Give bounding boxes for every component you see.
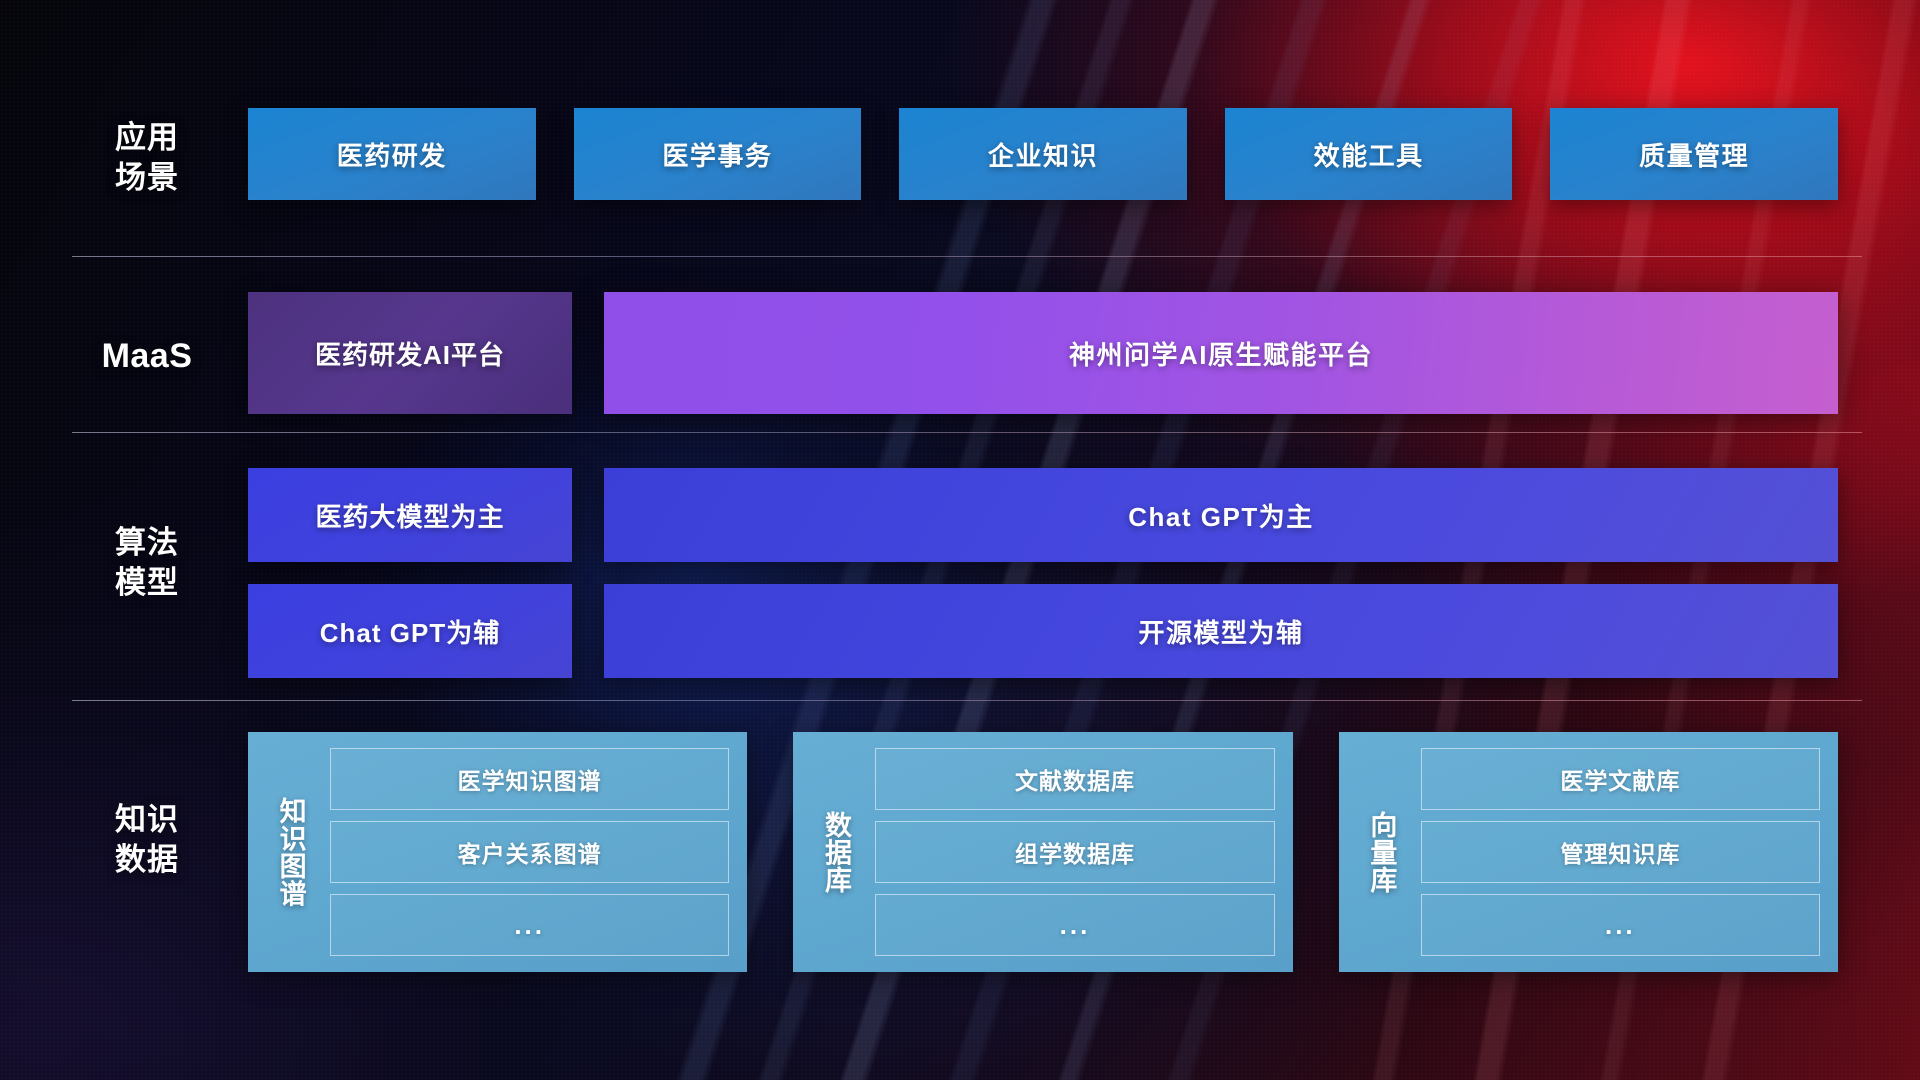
algo-box-label: Chat GPT为辅 <box>320 613 500 650</box>
knowledge-panel-title: 数据库 <box>807 748 863 956</box>
maas-box-shenzhou-wenxue-platform[interactable]: 神州问学AI原生赋能平台 <box>604 292 1838 414</box>
algorithm-line-primary: 医药大模型为主 Chat GPT为主 <box>248 468 1838 562</box>
maas-box-medicine-ai-platform[interactable]: 医药研发AI平台 <box>248 292 572 414</box>
app-box-label: 效能工具 <box>1314 136 1424 173</box>
knowledge-panel-items: 医学文献库 管理知识库 ... <box>1409 748 1820 956</box>
divider-after-maas <box>72 432 1862 433</box>
knowledge-item-more[interactable]: ... <box>330 894 729 956</box>
knowledge-panel-title: 向量库 <box>1353 748 1409 956</box>
knowledge-panel-title: 知识图谱 <box>262 748 318 956</box>
app-box-quality-management[interactable]: 质量管理 <box>1550 108 1838 200</box>
divider-after-applications <box>72 256 1862 257</box>
app-box-label: 企业知识 <box>988 136 1098 173</box>
maas-box-label: 医药研发AI平台 <box>315 335 505 372</box>
row-label-maas: MaaS <box>82 335 212 379</box>
row-label-application-scenarios: 应用 场景 <box>82 118 212 197</box>
knowledge-item[interactable]: 医学文献库 <box>1421 748 1820 810</box>
algo-box-chatgpt-secondary[interactable]: Chat GPT为辅 <box>248 584 572 678</box>
knowledge-panel-database[interactable]: 数据库 文献数据库 组学数据库 ... <box>793 732 1292 972</box>
app-box-label: 医学事务 <box>662 136 772 173</box>
app-box-medical-affairs[interactable]: 医学事务 <box>574 108 862 200</box>
row-application-scenarios: 医药研发 医学事务 企业知识 效能工具 质量管理 <box>248 108 1838 200</box>
knowledge-item[interactable]: 医学知识图谱 <box>330 748 729 810</box>
row-label-algorithm-models: 算法 模型 <box>82 523 212 602</box>
app-box-label: 质量管理 <box>1639 136 1749 173</box>
app-box-medicine-rd[interactable]: 医药研发 <box>248 108 536 200</box>
row-label-knowledge-data: 知识 数据 <box>82 800 212 879</box>
knowledge-panel-knowledge-graph[interactable]: 知识图谱 医学知识图谱 客户关系图谱 ... <box>248 732 747 972</box>
algo-box-medicine-large-model-primary[interactable]: 医药大模型为主 <box>248 468 572 562</box>
algo-box-label: 医药大模型为主 <box>315 497 504 534</box>
knowledge-panel-items: 医学知识图谱 客户关系图谱 ... <box>318 748 729 956</box>
knowledge-panel-vector-store[interactable]: 向量库 医学文献库 管理知识库 ... <box>1339 732 1838 972</box>
divider-after-algorithms <box>72 700 1862 701</box>
row-algorithm-models: 医药大模型为主 Chat GPT为主 Chat GPT为辅 开源模型为辅 <box>248 468 1838 678</box>
app-box-label: 医药研发 <box>337 136 447 173</box>
knowledge-panel-items: 文献数据库 组学数据库 ... <box>863 748 1274 956</box>
knowledge-item[interactable]: 客户关系图谱 <box>330 821 729 883</box>
knowledge-item[interactable]: 管理知识库 <box>1421 821 1820 883</box>
knowledge-item[interactable]: 组学数据库 <box>875 821 1274 883</box>
algo-box-label: Chat GPT为主 <box>1128 497 1313 534</box>
algorithm-line-secondary: Chat GPT为辅 开源模型为辅 <box>248 584 1838 678</box>
row-maas: 医药研发AI平台 神州问学AI原生赋能平台 <box>248 292 1838 414</box>
maas-box-label: 神州问学AI原生赋能平台 <box>1069 335 1373 372</box>
row-knowledge-data: 知识图谱 医学知识图谱 客户关系图谱 ... 数据库 文献数据库 组学数据库 .… <box>248 732 1838 972</box>
slide-canvas: 应用 场景 医药研发 医学事务 企业知识 效能工具 质量管理 MaaS 医药研发… <box>0 0 1920 1080</box>
app-box-enterprise-knowledge[interactable]: 企业知识 <box>899 108 1187 200</box>
algo-box-opensource-secondary[interactable]: 开源模型为辅 <box>604 584 1838 678</box>
app-box-efficiency-tools[interactable]: 效能工具 <box>1225 108 1513 200</box>
algo-box-label: 开源模型为辅 <box>1138 613 1303 650</box>
knowledge-item-more[interactable]: ... <box>1421 894 1820 956</box>
algo-box-chatgpt-primary[interactable]: Chat GPT为主 <box>604 468 1838 562</box>
knowledge-item[interactable]: 文献数据库 <box>875 748 1274 810</box>
knowledge-item-more[interactable]: ... <box>875 894 1274 956</box>
diagram-content: 应用 场景 医药研发 医学事务 企业知识 效能工具 质量管理 MaaS 医药研发… <box>0 0 1920 1080</box>
